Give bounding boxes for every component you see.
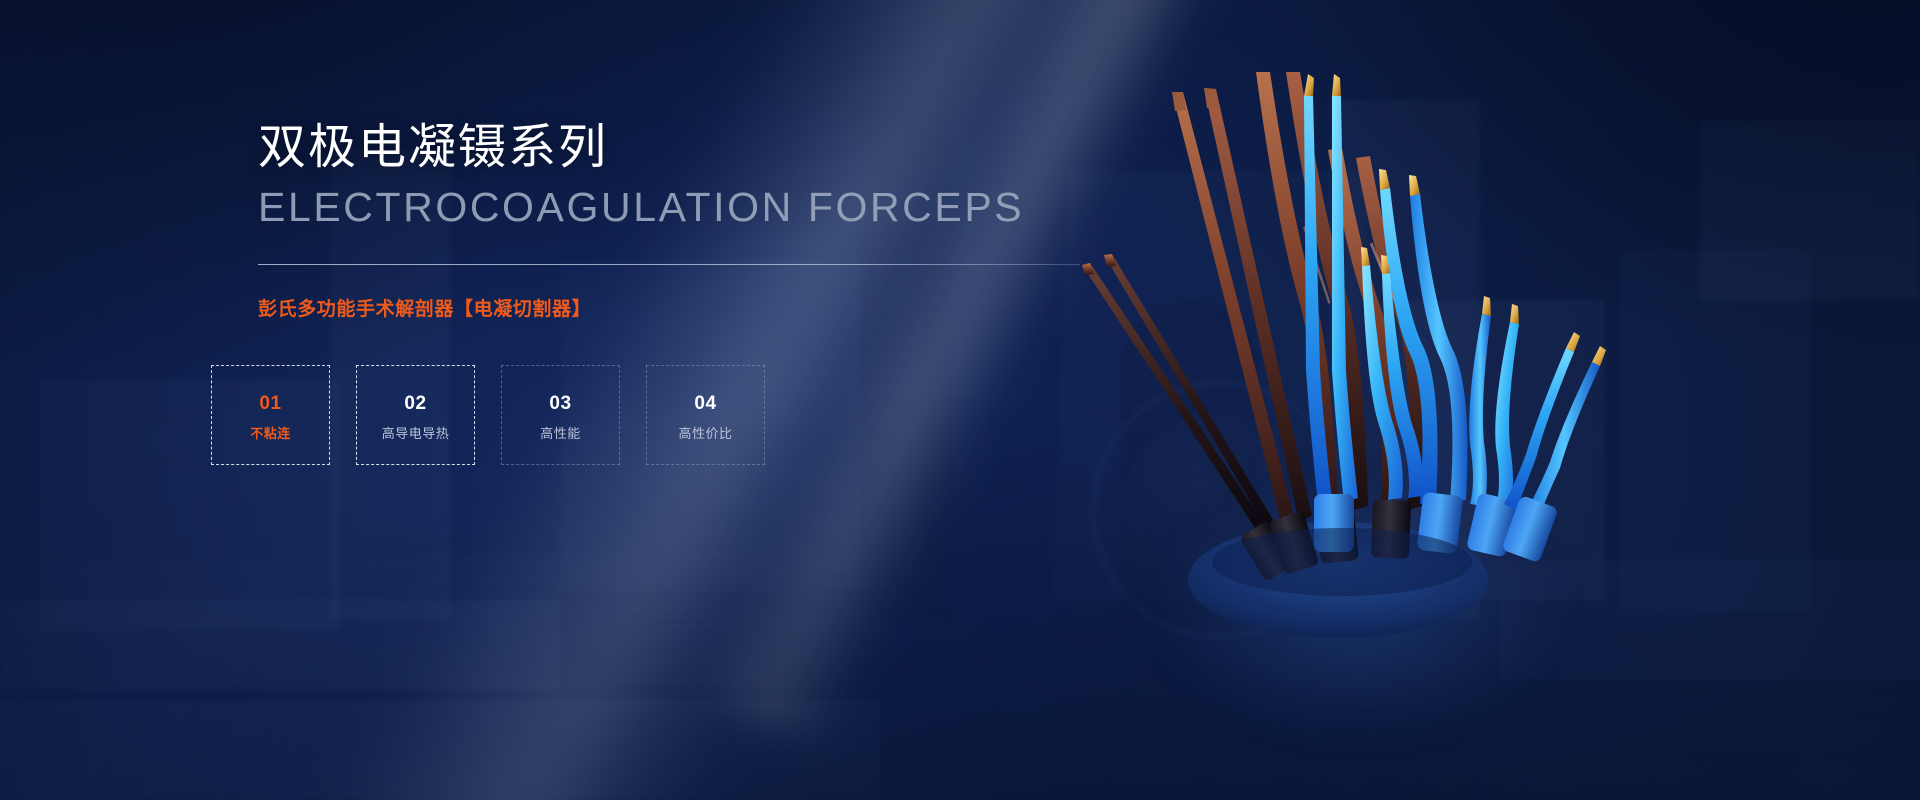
feature-card-03[interactable]: 03 高性能	[501, 365, 620, 465]
page-title-chinese: 双极电凝镊系列	[258, 120, 1158, 177]
title-divider	[258, 264, 1080, 265]
feature-label: 不粘连	[212, 427, 329, 440]
feature-card-04[interactable]: 04 高性价比	[646, 365, 765, 465]
feature-card-01[interactable]: 01 不粘连	[211, 365, 330, 465]
hero-text-block: 双极电凝镊系列 ELECTROCOAGULATION FORCEPS 彭氏多功能…	[258, 120, 1158, 323]
forceps-blue-4	[1466, 296, 1519, 558]
feature-highlights-list: 01 不粘连 02 高导电导热 03 高性能 04 高性价比	[211, 365, 765, 465]
feature-label: 高性价比	[647, 427, 764, 440]
feature-number: 01	[212, 394, 329, 413]
feature-card-02[interactable]: 02 高导电导热	[356, 365, 475, 465]
forceps-cluster-illustration	[1080, 70, 1640, 630]
forceps-blue-5	[1501, 332, 1606, 563]
product-subtitle: 彭氏多功能手术解剖器【电凝切割器】	[258, 297, 1158, 324]
feature-label: 高性能	[502, 427, 619, 440]
feature-label: 高导电导热	[357, 427, 474, 440]
feature-number: 04	[647, 394, 764, 413]
feature-number: 02	[357, 394, 474, 413]
product-hero-banner: 双极电凝镊系列 ELECTROCOAGULATION FORCEPS 彭氏多功能…	[0, 0, 1920, 800]
feature-number: 03	[502, 394, 619, 413]
page-title-english: ELECTROCOAGULATION FORCEPS	[258, 183, 1158, 232]
